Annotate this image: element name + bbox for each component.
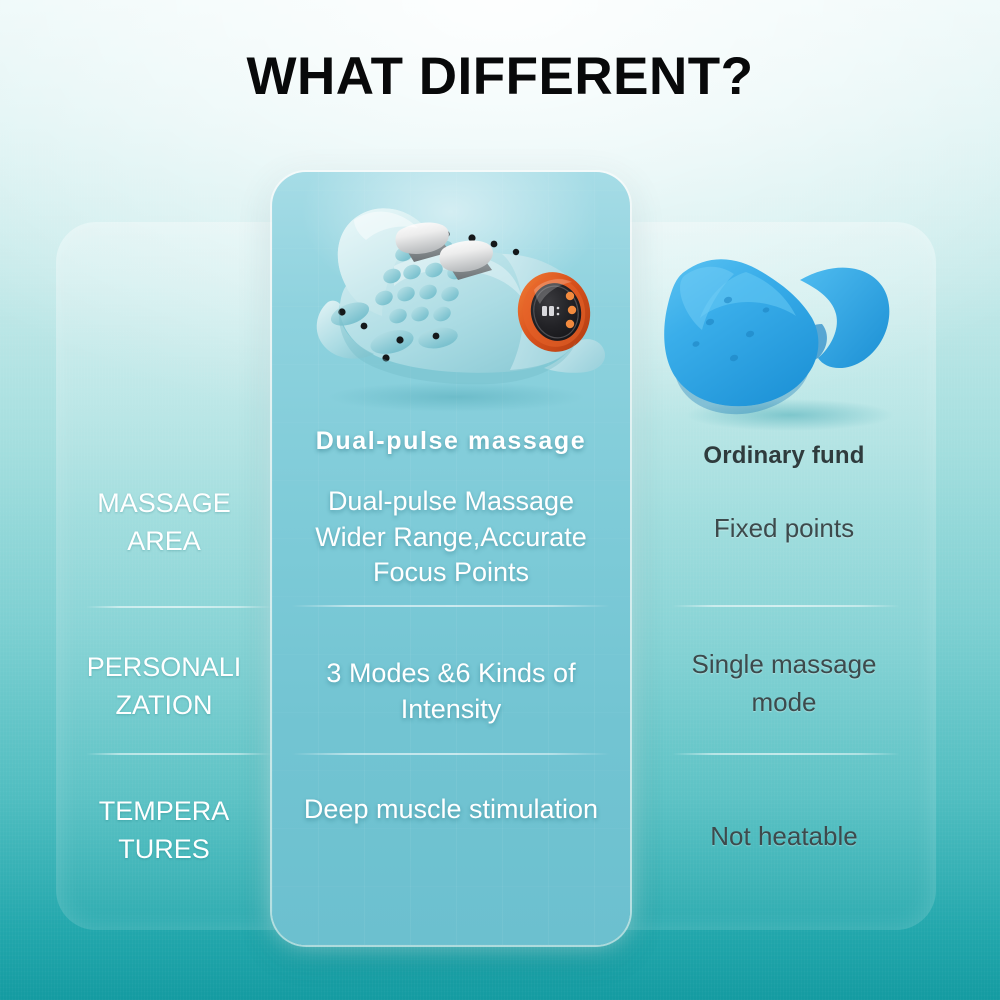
ordinary-divider-2	[672, 753, 900, 755]
page-title: WHAT DIFFERENT?	[0, 46, 1000, 107]
feature-label-personalization: PERSONALI ZATION	[56, 648, 272, 725]
feature-divider-2	[86, 753, 272, 755]
featured-divider-1	[292, 605, 610, 607]
featured-row-line2: Intensity	[272, 692, 630, 728]
ordinary-row-temperatures: Not heatable	[632, 818, 936, 856]
ordinary-row-line1: Fixed points	[632, 510, 936, 548]
featured-row-massage-area: Dual-pulse Massage Wider Range,Accurate …	[272, 484, 630, 591]
ordinary-row-line1: Single massage	[632, 646, 936, 684]
featured-row-temperatures: Deep muscle stimulation	[272, 792, 630, 828]
ordinary-row-line1: Not heatable	[632, 818, 936, 856]
featured-divider-2	[292, 753, 610, 755]
feature-label-temperatures: TEMPERA TURES	[56, 792, 272, 869]
featured-row-line2: Wider Range,Accurate	[272, 520, 630, 556]
ordinary-product-column: Ordinary fund Fixed points Single massag…	[632, 222, 936, 930]
ordinary-row-line2: mode	[632, 684, 936, 722]
feature-label-line2: AREA	[56, 522, 272, 560]
dual-pulse-massager-image	[288, 190, 614, 416]
ordinary-row-massage-area: Fixed points	[632, 510, 936, 548]
feature-label-column: MASSAGE AREA PERSONALI ZATION TEMPERA TU…	[56, 222, 272, 930]
featured-row-line1: Dual-pulse Massage	[272, 484, 630, 520]
infographic-canvas: WHAT DIFFERENT? MASSAGE AREA PERSONALI Z…	[0, 0, 1000, 1000]
featured-row-personalization: 3 Modes &6 Kinds of Intensity	[272, 656, 630, 727]
feature-label-line1: MASSAGE	[56, 484, 272, 522]
ordinary-row-personalization: Single massage mode	[632, 646, 936, 721]
ordinary-heading: Ordinary fund	[632, 442, 936, 470]
feature-label-line2: ZATION	[56, 686, 272, 724]
featured-product-card: Dual-pulse massage Dual-pulse Massage Wi…	[272, 172, 630, 945]
featured-row-line1: Deep muscle stimulation	[272, 792, 630, 828]
ordinary-divider-1	[672, 605, 900, 607]
feature-label-massage-area: MASSAGE AREA	[56, 484, 272, 561]
featured-row-line3: Focus Points	[272, 555, 630, 591]
feature-label-line1: PERSONALI	[56, 648, 272, 686]
feature-label-line2: TURES	[56, 830, 272, 868]
feature-divider-1	[86, 606, 272, 608]
featured-row-line1: 3 Modes &6 Kinds of	[272, 656, 630, 692]
ordinary-neck-stretcher-image	[650, 232, 918, 432]
feature-label-line1: TEMPERA	[56, 792, 272, 830]
featured-heading: Dual-pulse massage	[272, 427, 630, 456]
